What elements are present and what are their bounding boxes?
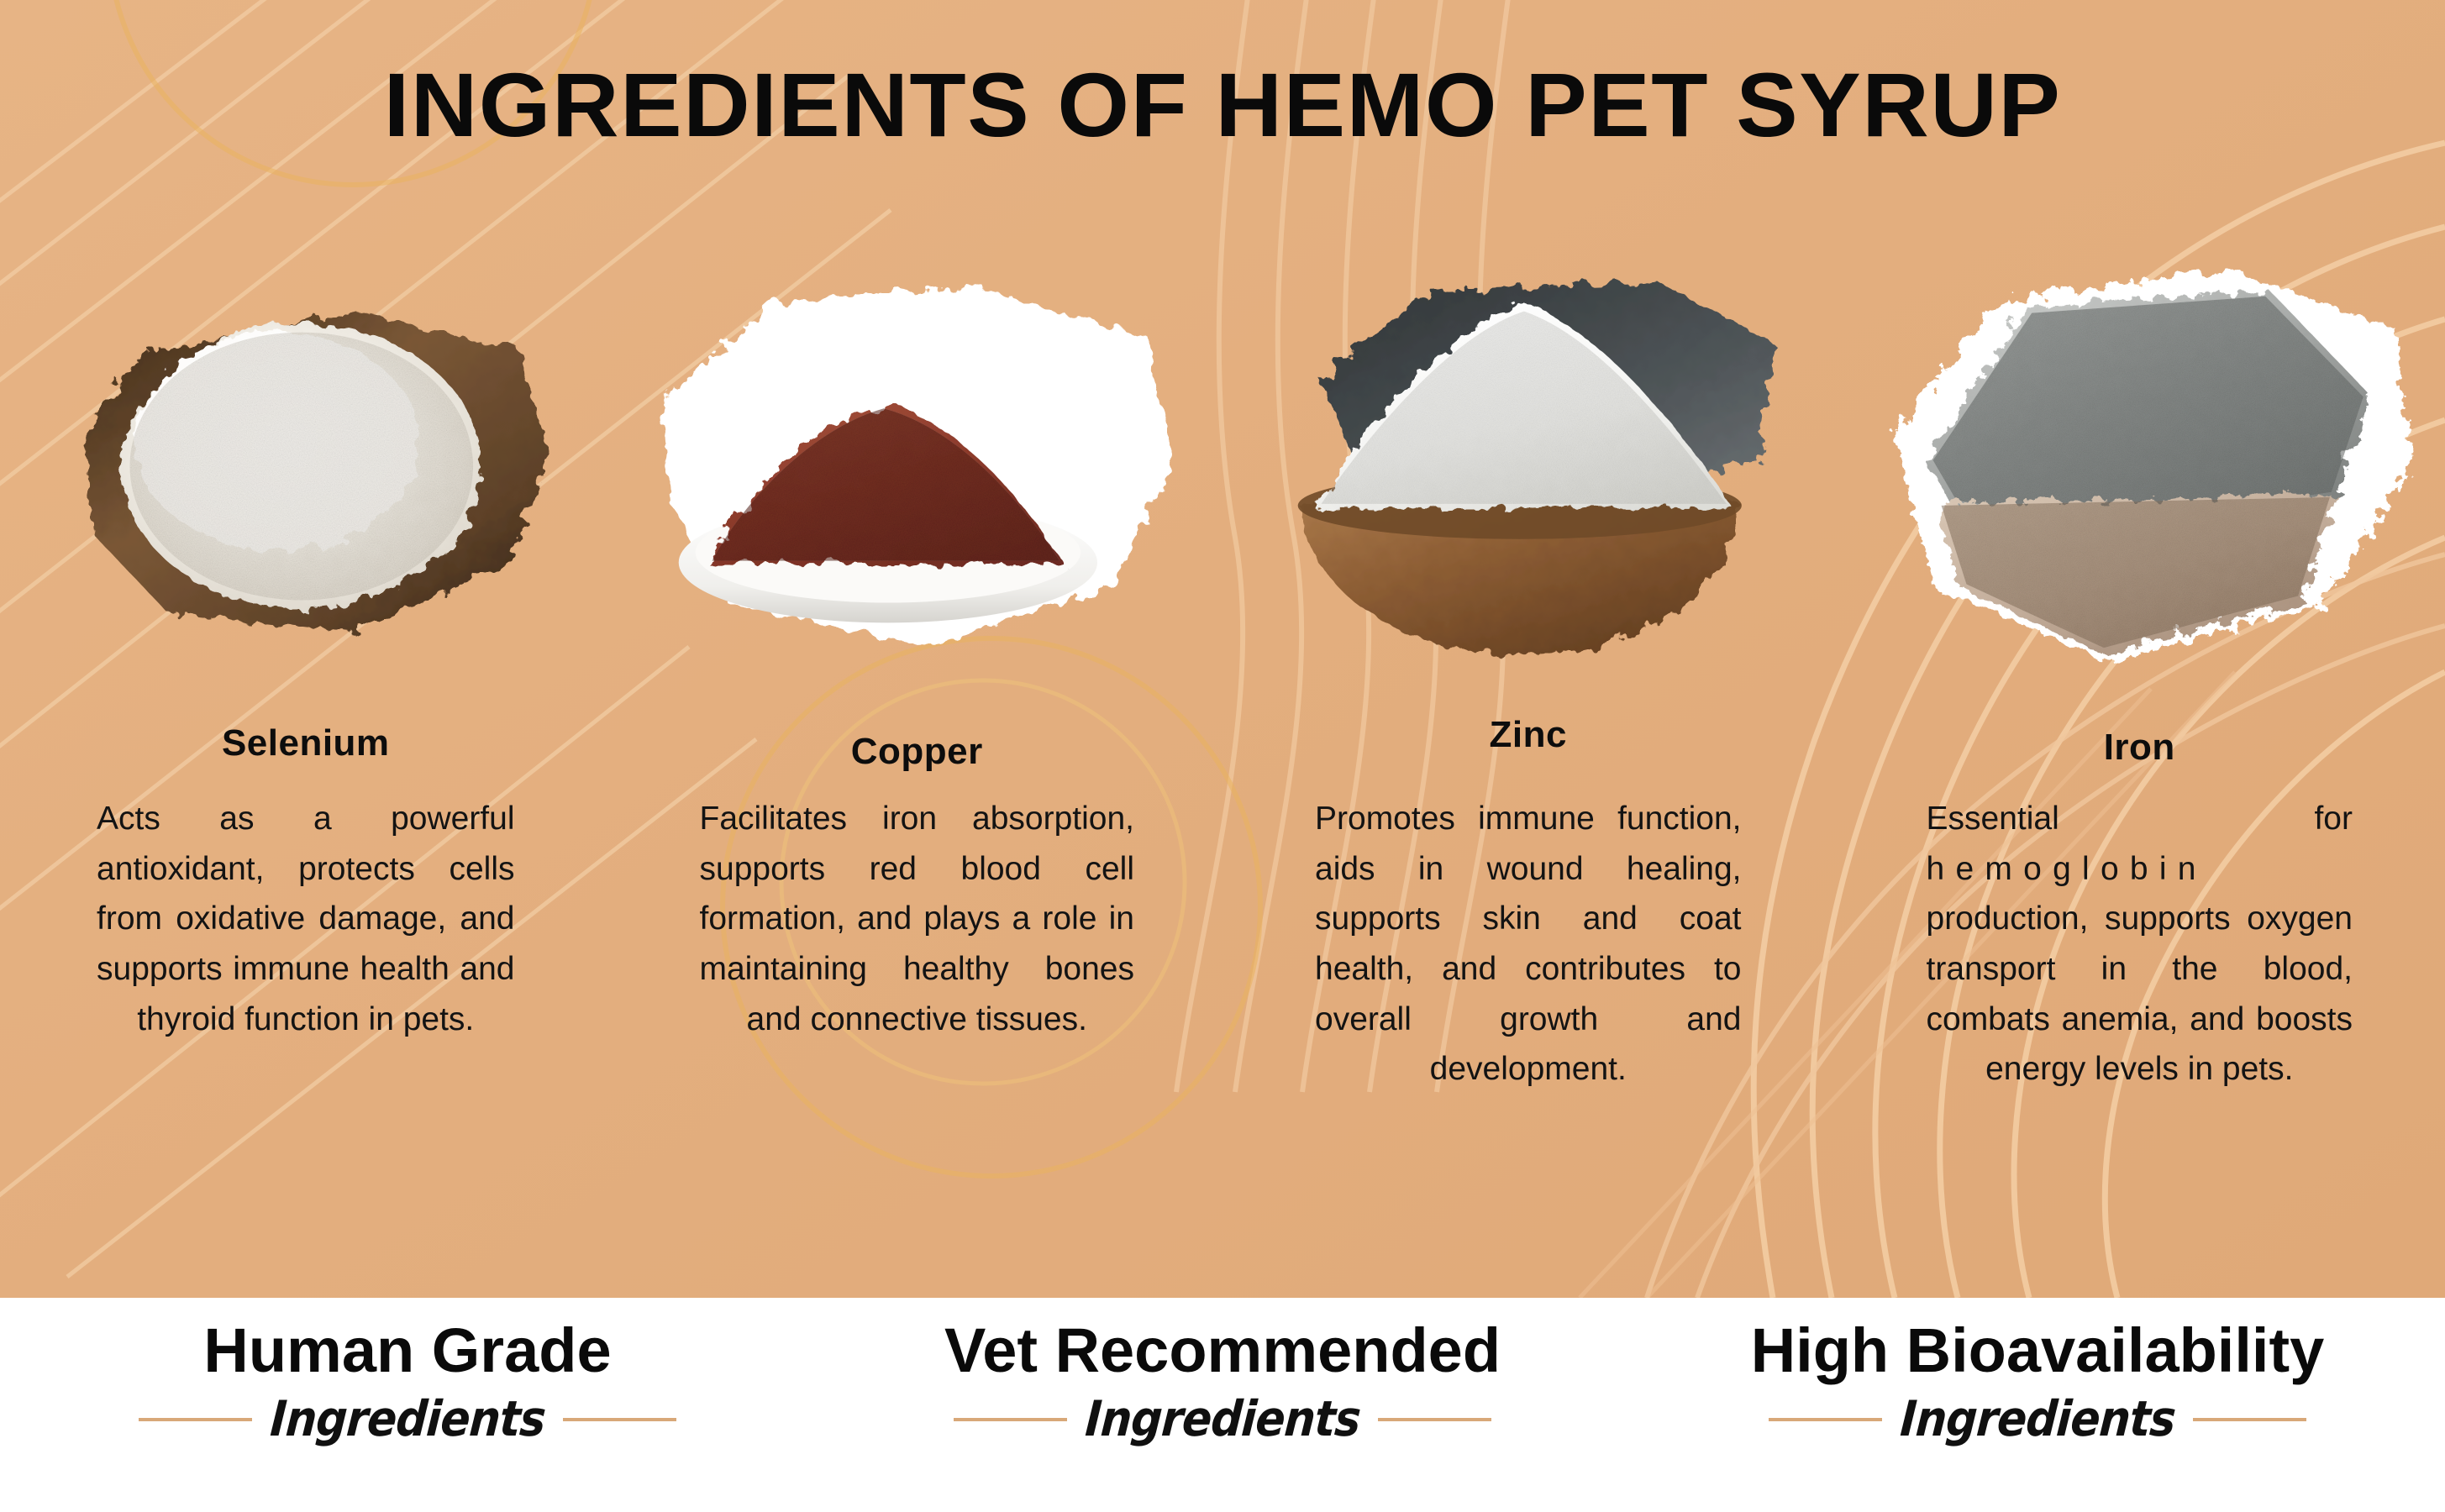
footer-banner: Human Grade Ingredients Vet Recommended … [0,1298,2445,1512]
copper-artwork-svg [612,252,1223,697]
footer-rule-left [954,1418,1067,1421]
ingredient-name-zinc: Zinc [1222,714,1834,756]
ingredient-card-iron: Iron Essential for hemoglobin production… [1834,252,2445,1218]
ingredient-name-iron: Iron [1834,727,2445,769]
footer-rule-left [1769,1418,1882,1421]
selenium-image [0,252,612,697]
selenium-artwork-svg [0,252,612,697]
footer-title-human-grade: Human Grade [0,1315,815,1386]
zinc-artwork-svg [1222,252,1834,697]
footer-subtitle-human-grade: Ingredients [268,1391,546,1447]
ingredient-description-copper: Facilitates iron absorption, supports re… [612,794,1223,1044]
footer-rule-right [1378,1418,1491,1421]
ingredient-name-selenium: Selenium [0,722,612,764]
iron-image [1834,252,2445,697]
ingredient-card-selenium: Selenium Acts as a powerful antioxidant,… [0,252,612,1218]
ingredient-name-copper: Copper [612,731,1223,773]
footer-item-vet-recommended: Vet Recommended Ingredients [815,1298,1630,1512]
ingredient-description-iron: Essential for hemoglobin production, sup… [1834,794,2445,1095]
iron-artwork-svg [1834,252,2445,697]
iron-desc-part1: Essential for [1927,801,2353,837]
footer-subtitle-vet-recommended: Ingredients [1083,1391,1361,1447]
infographic-poster: INGREDIENTS OF HEMO PET SYRUP [0,0,2445,1512]
copper-image [612,252,1223,697]
zinc-image [1222,252,1834,697]
iron-desc-part2: production, supports oxygen transport in… [1927,900,2353,1087]
footer-rule-left [139,1418,252,1421]
page-title: INGREDIENTS OF HEMO PET SYRUP [0,52,2445,157]
footer-rule-right [563,1418,676,1421]
ingredient-card-zinc: Zinc Promotes immune function, aids in w… [1222,252,1834,1218]
footer-subtitle-row-high-bioavailability: Ingredients [1630,1394,2445,1445]
iron-desc-hemoglobin: hemoglobin [1927,851,2207,887]
footer-title-vet-recommended: Vet Recommended [815,1315,1630,1386]
ingredient-description-zinc: Promotes immune function, aids in wound … [1222,794,1834,1095]
footer-rule-right [2193,1418,2306,1421]
footer-subtitle-row-human-grade: Ingredients [0,1394,815,1445]
footer-item-human-grade: Human Grade Ingredients [0,1298,815,1512]
ingredient-description-selenium: Acts as a powerful antioxidant, protects… [0,794,612,1044]
footer-subtitle-high-bioavailability: Ingredients [1898,1391,2176,1447]
footer-item-high-bioavailability: High Bioavailability Ingredients [1630,1298,2445,1512]
ingredient-card-copper: Copper Facilitates iron absorption, supp… [612,252,1223,1218]
ingredient-card-row: Selenium Acts as a powerful antioxidant,… [0,252,2445,1218]
footer-title-high-bioavailability: High Bioavailability [1630,1315,2445,1386]
footer-subtitle-row-vet-recommended: Ingredients [815,1394,1630,1445]
